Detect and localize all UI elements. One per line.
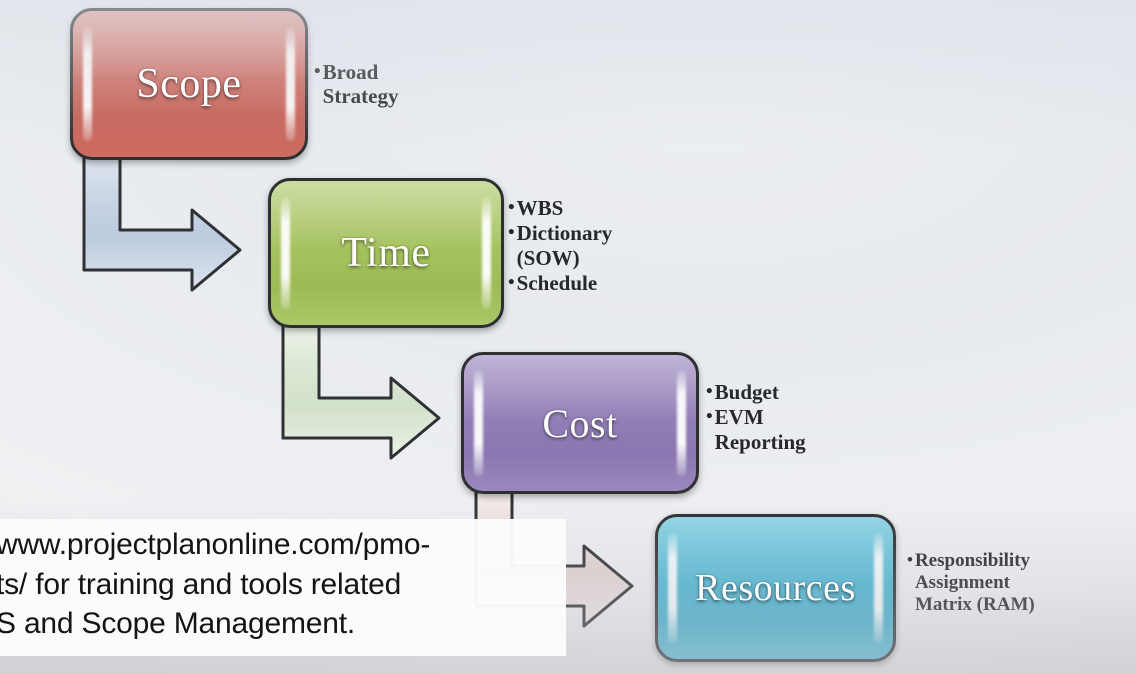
bullet-dot-icon: • xyxy=(508,196,515,219)
bullet-dot-icon: • xyxy=(907,550,913,571)
bullets-scope: • Broad Strategy xyxy=(314,60,464,110)
bullet-text: Dictionary (SOW) xyxy=(517,221,613,270)
node-sheen-right xyxy=(286,27,295,141)
connector-scope-to-time xyxy=(82,152,272,302)
caption-line-3: S and Scope Management. xyxy=(0,604,556,644)
node-time-label: Time xyxy=(341,229,430,277)
bullet-item: • Broad Strategy xyxy=(314,60,464,109)
connector-time-to-cost xyxy=(281,320,471,470)
node-sheen-right xyxy=(874,533,883,644)
bullet-item: • Dictionary (SOW) xyxy=(508,221,668,270)
bullet-item: • Responsibility Assignment Matrix (RAM) xyxy=(907,550,1097,616)
bullet-dot-icon: • xyxy=(508,221,515,244)
bullet-text: Budget xyxy=(715,380,779,404)
node-sheen-left xyxy=(474,370,483,476)
bullets-time: • WBS • Dictionary (SOW) • Schedule xyxy=(508,196,668,296)
bullet-dot-icon: • xyxy=(706,405,713,428)
bullet-text: Broad Strategy xyxy=(323,60,399,109)
node-sheen-left xyxy=(281,197,290,309)
caption-line-1: www.projectplanonline.com/pmo- xyxy=(0,525,556,565)
node-resources[interactable]: Resources xyxy=(655,514,896,662)
node-sheen-left xyxy=(668,533,677,644)
bullet-text: EVM Reporting xyxy=(715,405,806,454)
bullet-item: • Budget xyxy=(706,380,866,404)
node-scope-label: Scope xyxy=(136,60,241,108)
bullet-dot-icon: • xyxy=(706,380,713,403)
node-sheen-left xyxy=(83,27,92,141)
bullet-dot-icon: • xyxy=(314,60,321,83)
bullets-resources: • Responsibility Assignment Matrix (RAM) xyxy=(907,550,1097,617)
node-resources-label: Resources xyxy=(695,566,856,610)
node-scope[interactable]: Scope xyxy=(70,8,308,160)
node-cost-label: Cost xyxy=(542,400,617,447)
bullet-item: • Schedule xyxy=(508,271,668,295)
caption-overlay: www.projectplanonline.com/pmo- ts/ for t… xyxy=(0,519,566,656)
bullet-item: • WBS xyxy=(508,196,668,220)
bullet-item: • EVM Reporting xyxy=(706,405,866,454)
caption-line-2: ts/ for training and tools related xyxy=(0,565,556,605)
bullet-text: Schedule xyxy=(517,271,598,295)
node-sheen-right xyxy=(677,370,686,476)
node-sheen-right xyxy=(482,197,491,309)
node-cost[interactable]: Cost xyxy=(461,352,699,494)
bullet-text: WBS xyxy=(517,196,564,220)
bullet-dot-icon: • xyxy=(508,271,515,294)
bullets-cost: • Budget • EVM Reporting xyxy=(706,380,866,455)
bullet-text: Responsibility Assignment Matrix (RAM) xyxy=(915,550,1035,616)
diagram-canvas: Scope Time Cost Resources • Broad Strate… xyxy=(0,0,1136,674)
node-time[interactable]: Time xyxy=(268,178,504,328)
